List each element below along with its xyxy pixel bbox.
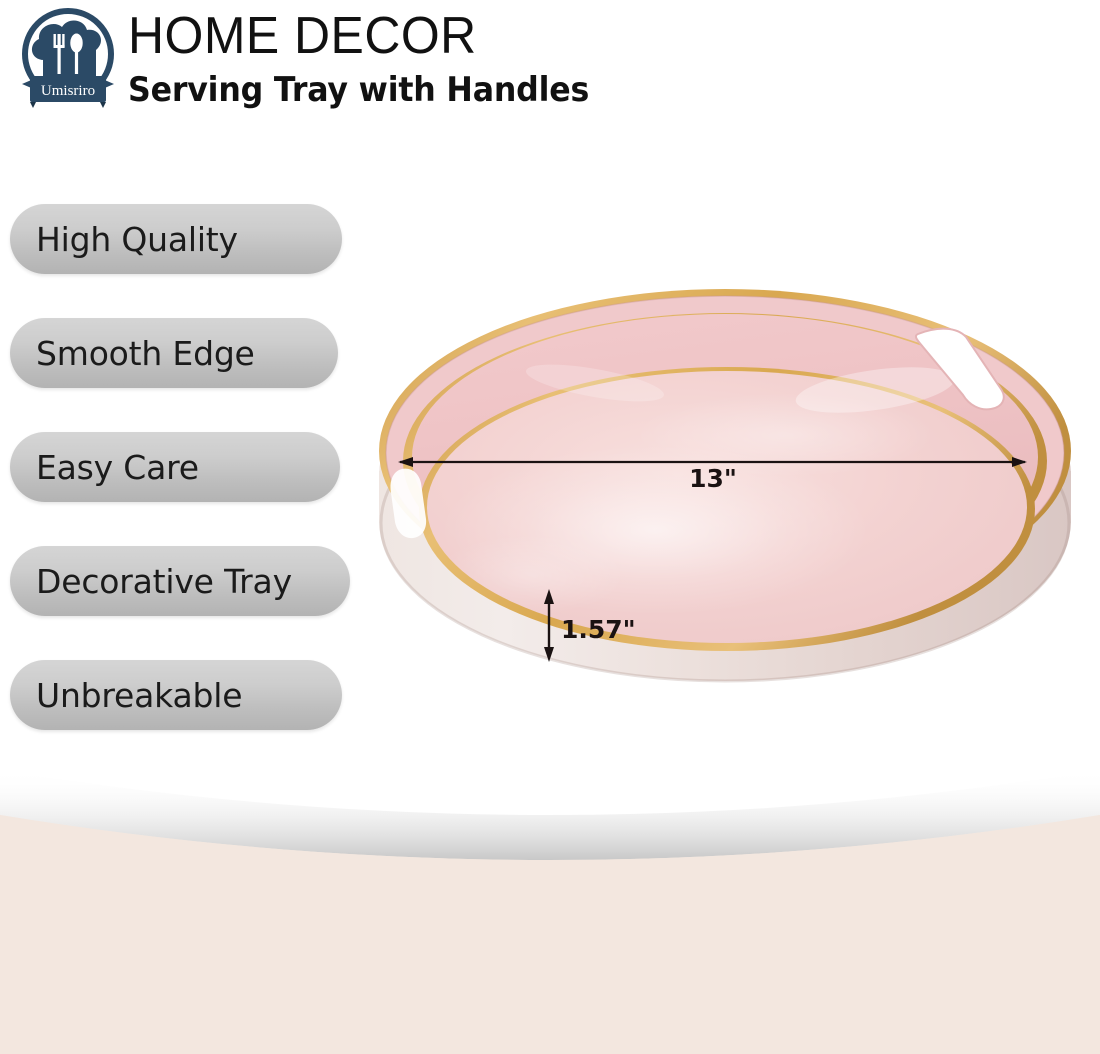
feature-label: High Quality xyxy=(10,220,238,259)
feature-pill-decorative-tray: Decorative Tray xyxy=(10,546,350,616)
feature-label: Unbreakable xyxy=(10,676,242,715)
header: Umisriro HOME DECOR Serving Tray with Ha… xyxy=(0,0,1100,130)
logo-brand-name: Umisriro xyxy=(41,83,95,99)
title-block: HOME DECOR Serving Tray with Handles xyxy=(128,6,624,112)
feature-pill-unbreakable: Unbreakable xyxy=(10,660,342,730)
brand-logo: Umisriro xyxy=(14,6,122,118)
chef-hat-icon xyxy=(32,21,101,80)
feature-pill-high-quality: High Quality xyxy=(10,204,342,274)
product-image: 13" 1.57" xyxy=(355,275,1095,725)
feature-pill-easy-care: Easy Care xyxy=(10,432,340,502)
feature-pill-smooth-edge: Smooth Edge xyxy=(10,318,338,388)
feature-label: Easy Care xyxy=(10,448,199,487)
feature-label: Decorative Tray xyxy=(10,562,292,601)
bottom-decorative-panel xyxy=(0,730,1100,1054)
dimension-height-label: 1.57" xyxy=(561,615,636,644)
feature-list: High Quality Smooth Edge Easy Care Decor… xyxy=(10,204,370,774)
page-title: HOME DECOR xyxy=(128,6,604,66)
feature-label: Smooth Edge xyxy=(10,334,255,373)
product-infographic: Umisriro HOME DECOR Serving Tray with Ha… xyxy=(0,0,1100,1054)
dimension-diameter-label: 13" xyxy=(689,464,737,493)
page-subtitle: Serving Tray with Handles xyxy=(128,68,589,112)
